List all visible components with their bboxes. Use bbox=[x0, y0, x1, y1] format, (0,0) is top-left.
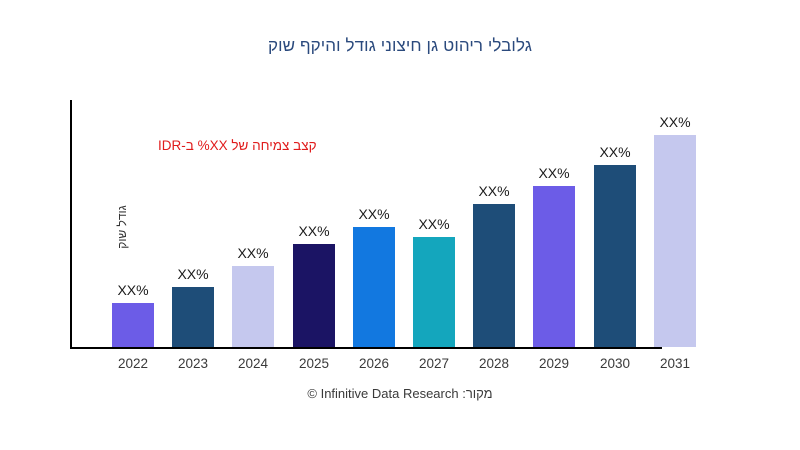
growth-rate-annotation: קצב צמיחה של XX% ב-IDR bbox=[158, 138, 317, 153]
plot-area: גודל שוק קצב צמיחה של XX% ב-IDR XX%XX%XX… bbox=[70, 100, 770, 349]
bar-rect[interactable] bbox=[413, 237, 455, 347]
page-title: גלובלי ריהוט גן חיצוני גודל והיקף שוק bbox=[0, 36, 800, 56]
bar-rect[interactable] bbox=[533, 186, 575, 347]
bar-rect[interactable] bbox=[473, 204, 515, 347]
bar-rect[interactable] bbox=[172, 287, 214, 347]
x-tick-2024: 2024 bbox=[223, 356, 283, 371]
bar-value-label: XX% bbox=[177, 267, 208, 281]
bar-value-label: XX% bbox=[237, 246, 268, 260]
x-tick-2023: 2023 bbox=[163, 356, 223, 371]
bar-rect[interactable] bbox=[353, 227, 395, 347]
bar-value-label: XX% bbox=[298, 224, 329, 238]
bar-rect[interactable] bbox=[654, 135, 696, 347]
bar-2023[interactable]: XX% bbox=[172, 287, 214, 347]
bar-2025[interactable]: XX% bbox=[293, 244, 335, 347]
bar-2022[interactable]: XX% bbox=[112, 303, 154, 347]
bar-rect[interactable] bbox=[293, 244, 335, 347]
x-axis-line bbox=[70, 347, 662, 349]
chart-canvas: גלובלי ריהוט גן חיצוני גודל והיקף שוק גו… bbox=[0, 0, 800, 450]
bar-2030[interactable]: XX% bbox=[594, 165, 636, 347]
bar-2027[interactable]: XX% bbox=[413, 237, 455, 347]
bar-2024[interactable]: XX% bbox=[232, 266, 274, 347]
bar-rect[interactable] bbox=[112, 303, 154, 347]
x-tick-2026: 2026 bbox=[344, 356, 404, 371]
x-tick-2029: 2029 bbox=[524, 356, 584, 371]
x-tick-2025: 2025 bbox=[284, 356, 344, 371]
source-note: מקור: Infinitive Data Research © bbox=[0, 386, 800, 401]
bar-value-label: XX% bbox=[117, 283, 148, 297]
bar-value-label: XX% bbox=[418, 217, 449, 231]
bar-2031[interactable]: XX% bbox=[654, 135, 696, 347]
x-tick-2022: 2022 bbox=[103, 356, 163, 371]
bar-value-label: XX% bbox=[478, 184, 509, 198]
bar-value-label: XX% bbox=[659, 115, 690, 129]
bar-2028[interactable]: XX% bbox=[473, 204, 515, 347]
x-tick-2027: 2027 bbox=[404, 356, 464, 371]
bar-value-label: XX% bbox=[358, 207, 389, 221]
x-tick-2030: 2030 bbox=[585, 356, 645, 371]
bar-2026[interactable]: XX% bbox=[353, 227, 395, 347]
bar-rect[interactable] bbox=[594, 165, 636, 347]
y-axis-line bbox=[70, 100, 72, 349]
bar-value-label: XX% bbox=[538, 166, 569, 180]
bar-value-label: XX% bbox=[599, 145, 630, 159]
bar-2029[interactable]: XX% bbox=[533, 186, 575, 347]
x-tick-2031: 2031 bbox=[645, 356, 705, 371]
bar-rect[interactable] bbox=[232, 266, 274, 347]
x-tick-2028: 2028 bbox=[464, 356, 524, 371]
